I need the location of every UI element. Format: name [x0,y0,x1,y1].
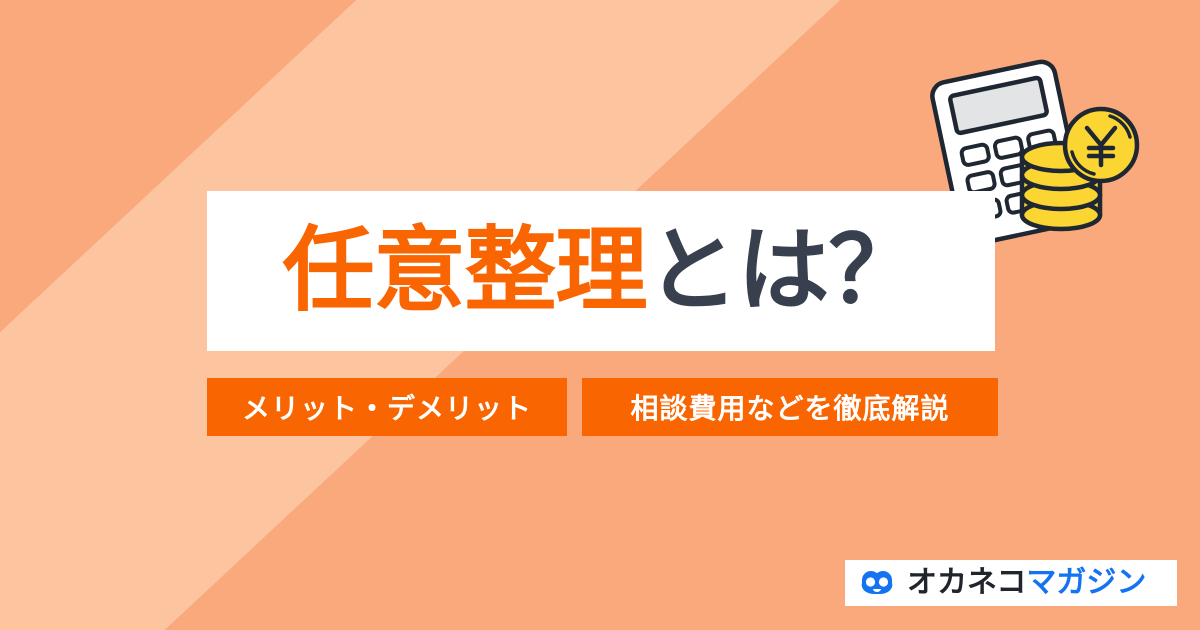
subtitle-badge-1: メリット・デメリット [207,378,567,436]
brand-logo: オカネコマガジン [845,560,1177,606]
title-band: 任意整理とは？ [207,191,995,351]
subtitle-badge-2: 相談費用などを徹底解説 [582,378,998,436]
title-keyword: 任意整理 [282,217,646,324]
brand-name-primary: オカネコ [907,565,1026,600]
yen-coin-icon [1065,109,1137,181]
brand-logo-wordmark: オカネコマガジン [907,568,1146,598]
title-tail: とは？ [647,217,920,324]
hero-banner: 任意整理とは？ メリット・デメリット 相談費用などを徹底解説 オカネコマガジン [0,0,1200,630]
page-title: 任意整理とは？ [282,225,919,317]
okaneko-cat-face-icon [859,571,895,595]
brand-name-secondary: マガジン [1026,565,1146,600]
